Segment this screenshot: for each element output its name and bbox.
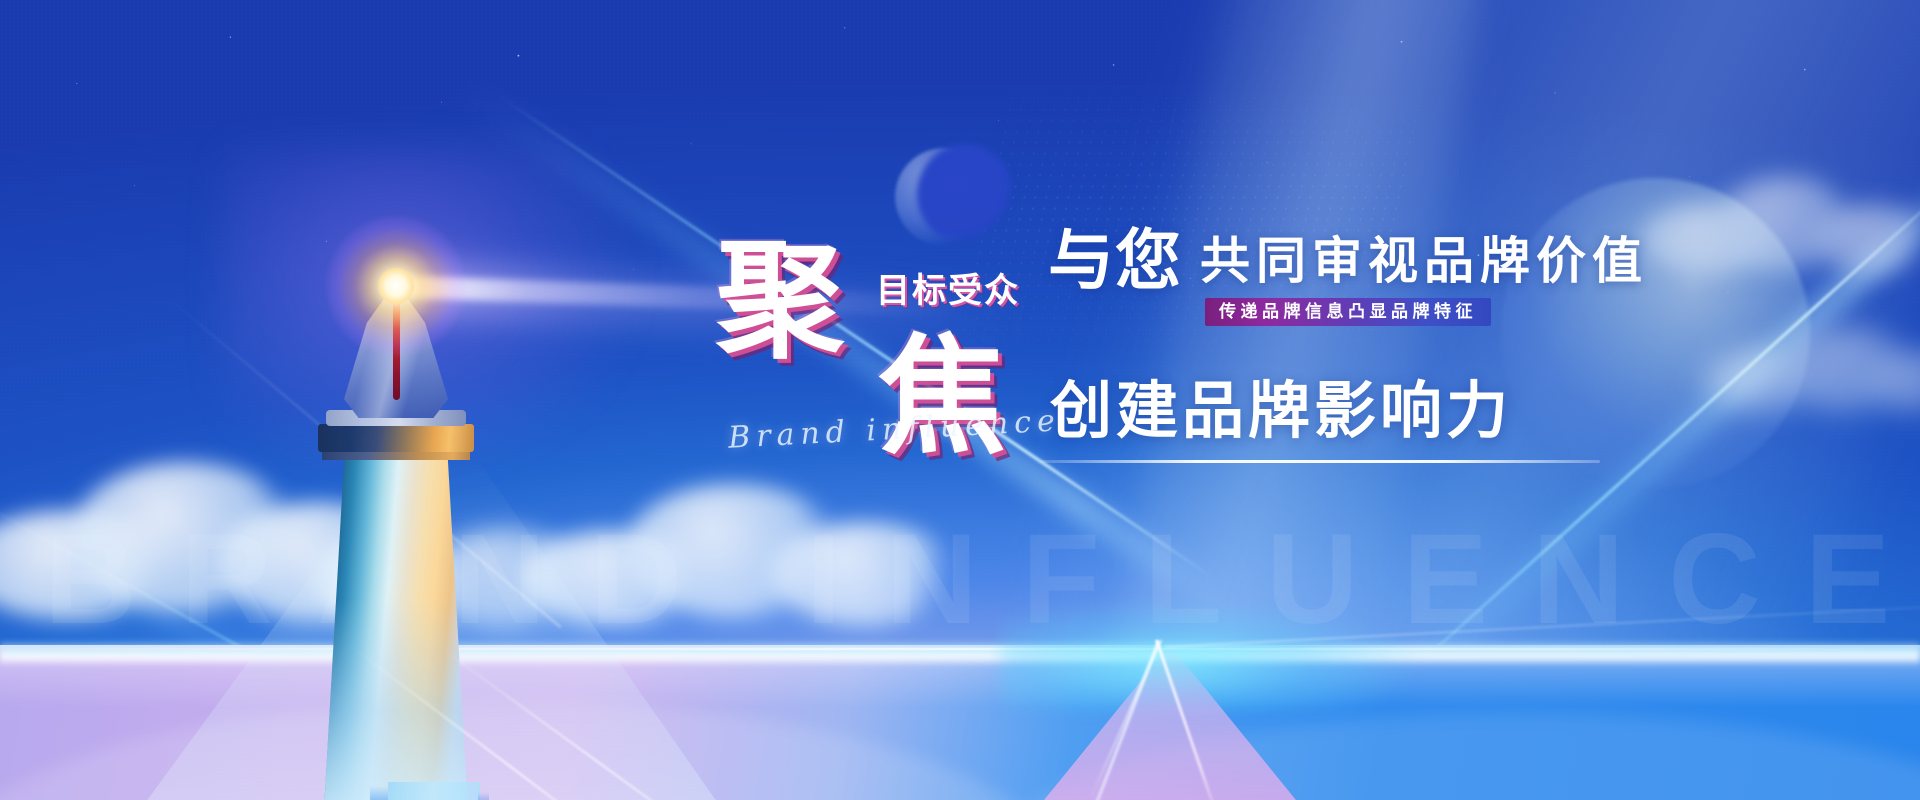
- with-you-text: 与您: [1048, 228, 1182, 294]
- hero-banner: BRAND INFLUENCE 聚 焦: [0, 0, 1920, 800]
- audience-tag: 目标受众: [876, 274, 1020, 308]
- headline-char-ju: 聚: [716, 238, 844, 366]
- headline-line-1: 共同审视品牌价值: [1200, 236, 1648, 286]
- headline-line-2: 创建品牌影响力: [1050, 380, 1512, 442]
- status-badge: 传递品牌信息凸显品牌特征: [1205, 298, 1491, 326]
- divider-rule: [1040, 460, 1600, 463]
- banner-copy: 聚 焦 目标受众 Brand influence 与您 共同审视品牌价值 传递品…: [0, 0, 1920, 800]
- status-badge-label: 传递品牌信息凸显品牌特征: [1219, 304, 1477, 321]
